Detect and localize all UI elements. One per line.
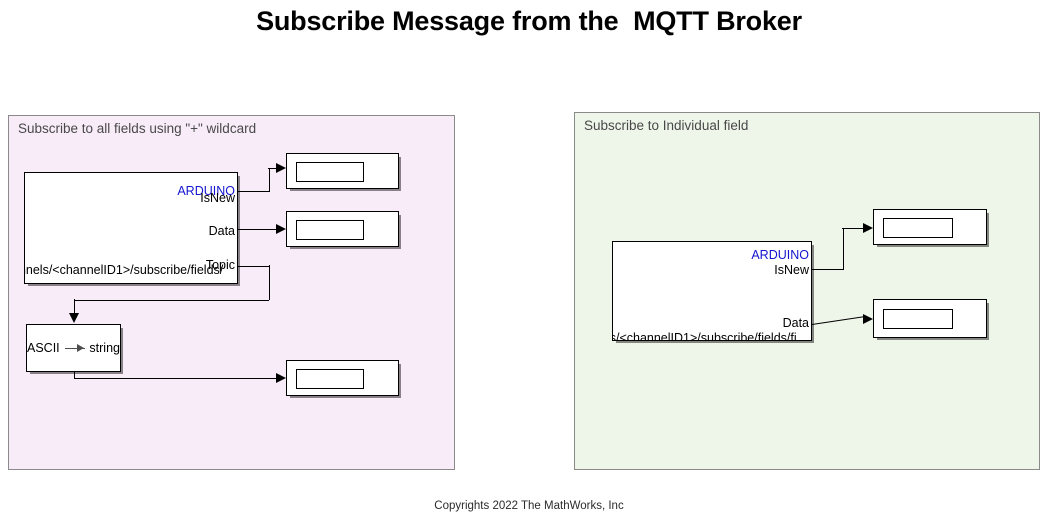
- wire-isnew-right-segment-h1: [812, 269, 844, 270]
- panel-left-title: Subscribe to all fields using "+" wildca…: [18, 121, 256, 136]
- display-block-left-data[interactable]: [286, 211, 399, 247]
- display-block-left-isnew[interactable]: [286, 153, 399, 189]
- wire-isnew-right-segment-v: [843, 228, 844, 269]
- port-label-isnew: IsNew: [200, 191, 235, 205]
- ascii-input-label: ASCII: [27, 341, 60, 355]
- mqtt-subscribe-individual-field-block[interactable]: ARDUINO IsNew Data els/<channelID1>/subs…: [612, 241, 812, 341]
- wire-isnew-segment-h1: [238, 191, 270, 192]
- arduino-brand-label-right: ARDUINO: [751, 248, 809, 262]
- display-field-left-topic: [296, 369, 364, 389]
- right-arrow-icon: [65, 343, 85, 353]
- copyright-note: Copyrights 2022 The MathWorks, Inc: [0, 500, 1058, 512]
- display-field-left-isnew: [296, 162, 364, 182]
- wire-isnew-segment-v: [269, 168, 270, 191]
- display-field-right-isnew: [883, 218, 953, 238]
- ascii-to-string-content: ASCII string: [27, 325, 120, 371]
- port-label-data-right: Data: [783, 316, 809, 330]
- mqtt-topic-text: annels/<channelID1>/subscribe/fields/: [24, 263, 223, 277]
- arrow-ascii-to-display: [276, 373, 286, 383]
- ascii-output-label: string: [89, 341, 120, 355]
- wire-topic-segment-h2: [74, 300, 269, 301]
- arrow-data-right-to-display: [863, 314, 873, 324]
- display-block-right-data[interactable]: [873, 299, 987, 338]
- diagram-canvas: Subscribe Message from the MQTT Broker S…: [0, 0, 1058, 526]
- wire-topic-segment-h1: [238, 266, 270, 267]
- arrow-isnew-to-display: [276, 163, 286, 173]
- mqtt-subscribe-all-fields-block[interactable]: ARDUINO IsNew Data Topic annels/<channel…: [24, 172, 238, 284]
- arrow-isnew-right-to-display: [863, 223, 873, 233]
- arrow-data-to-display: [276, 224, 286, 234]
- arrow-topic-to-ascii: [69, 313, 79, 323]
- port-label-isnew-right: IsNew: [774, 263, 809, 277]
- port-label-data: Data: [209, 224, 235, 238]
- display-field-left-data: [296, 220, 364, 240]
- ascii-to-string-block[interactable]: ASCII string: [26, 324, 121, 372]
- page-title: Subscribe Message from the MQTT Broker: [0, 6, 1058, 37]
- display-block-left-topic[interactable]: [286, 360, 399, 396]
- mqtt-topic-text-right: els/<channelID1>/subscribe/fields/fi: [612, 331, 797, 341]
- wire-topic-segment-v1: [269, 265, 270, 300]
- wire-data-segment: [238, 229, 280, 230]
- display-field-right-data: [883, 309, 953, 329]
- panel-right-title: Subscribe to Individual field: [584, 118, 748, 133]
- wire-ascii-segment-h: [74, 378, 281, 379]
- display-block-right-isnew[interactable]: [873, 209, 987, 245]
